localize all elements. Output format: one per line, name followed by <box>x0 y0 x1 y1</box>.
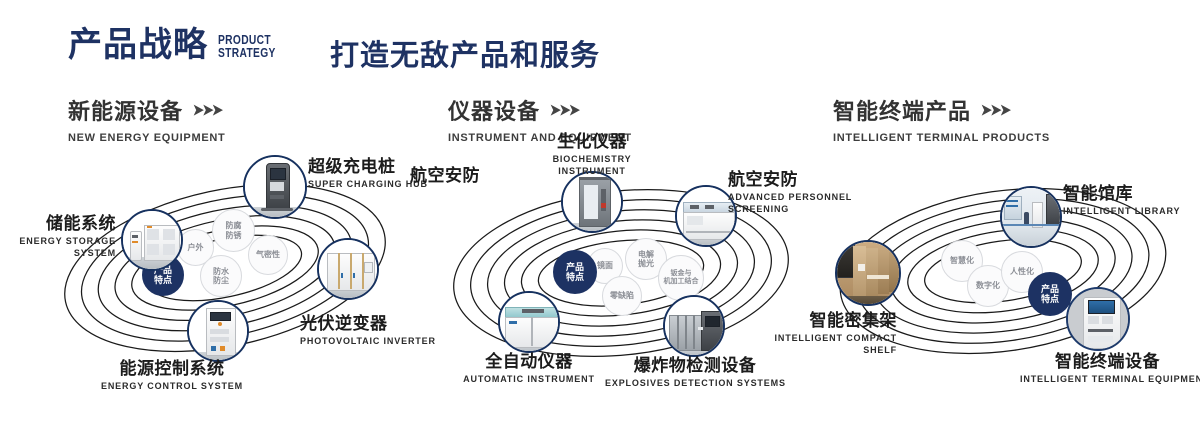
section-title-cn: 仪器设备 <box>448 94 540 126</box>
feature-bubble: 气密性 <box>248 235 288 275</box>
node-label-en: INTELLIGENT COMPACT <box>727 333 897 343</box>
node-label-en: INTELLIGENT TERMINAL EQUIPMENT <box>1020 374 1195 384</box>
section-title-en: INTELLIGENT TERMINAL PRODUCTS <box>833 132 1050 144</box>
node-label-automatic-instrument: 全自动仪器 AUTOMATIC INSTRUMENT <box>439 353 619 384</box>
node-energy-storage-system[interactable] <box>121 209 183 271</box>
node-biochemistry-instrument[interactable] <box>561 171 623 233</box>
node-label-cn: 智能终端设备 <box>1020 353 1195 372</box>
chevron-right-icon: ➤➤➤ <box>192 103 221 118</box>
section-title-cn: 新能源设备 <box>68 94 183 126</box>
node-label-en: INTELLIGENT LIBRARY <box>1063 206 1200 216</box>
node-label-energy-storage-system: 储能系统 ENERGY STORAGE SYSTEM <box>0 215 116 258</box>
feature-bubble: 防水 防尘 <box>200 255 242 297</box>
node-explosives-detection-systems[interactable] <box>663 295 725 357</box>
node-label-explosives-detection-systems: 爆炸物检测设备 EXPLOSIVES DETECTION SYSTEMS <box>605 357 785 388</box>
node-energy-control-system[interactable] <box>187 300 249 362</box>
feature-line: 智慧化 <box>950 256 974 265</box>
feature-line: 气密性 <box>256 250 280 259</box>
node-intelligent-library[interactable] <box>1000 186 1062 248</box>
feature-line: 零缺陷 <box>610 291 634 300</box>
node-label-cn: 智能馆库 <box>1063 185 1200 204</box>
cluster-new-energy-equipment: 户外 防腐 防锈 防水 防尘 气密性 产品 特点 <box>40 155 420 390</box>
feature-line: 抛光 <box>638 259 654 268</box>
center-bubble-line2: 特点 <box>1041 294 1059 304</box>
chevron-right-icon: ➤➤➤ <box>980 103 1009 118</box>
center-bubble-line1: 产品 <box>1041 284 1059 294</box>
node-label-intelligent-terminal-equipment: 智能终端设备 INTELLIGENT TERMINAL EQUIPMENT <box>1020 353 1195 384</box>
section-title-en: NEW ENERGY EQUIPMENT <box>68 132 225 144</box>
side-label-cn: 航空安防 <box>410 167 500 186</box>
node-label-en: SHELF <box>727 345 897 355</box>
page-title: 产品战略 PRODUCT STRATEGY <box>68 28 288 62</box>
feature-line: 镜面 <box>597 261 613 270</box>
node-photovoltaic-inverter[interactable] <box>317 238 379 300</box>
feature-bubble: 钣金与 机加工结合 <box>658 255 704 301</box>
center-bubble-product-features: 产品 特点 <box>1028 272 1072 316</box>
node-label-en: EXPLOSIVES DETECTION SYSTEMS <box>605 378 785 388</box>
center-bubble-line2: 特点 <box>154 275 172 285</box>
center-bubble-line2: 特点 <box>566 272 584 282</box>
page-title-cn: 产品战略 <box>68 28 208 62</box>
cluster-intelligent-terminal-products: 智慧化 数字化 人性化 产品 特点 <box>815 155 1195 390</box>
node-intelligent-compact-shelf[interactable] <box>835 240 901 306</box>
feature-line: 机加工结合 <box>664 278 699 286</box>
node-label-cn: 智能密集架 <box>727 312 897 331</box>
product-strategy-infographic: 产品战略 PRODUCT STRATEGY 打造无敌产品和服务 新能源设备 ➤➤… <box>0 0 1200 422</box>
node-label-energy-control-system: 能源控制系统 ENERGY CONTROL SYSTEM <box>82 360 262 391</box>
node-label-biochemistry-instrument: 生化仪器 BIOCHEMISTRY INSTRUMENT <box>533 133 651 176</box>
center-bubble-product-features: 产品 特点 <box>553 250 597 294</box>
center-bubble-line1: 产品 <box>566 262 584 272</box>
node-label-en: SYSTEM <box>0 248 116 258</box>
node-intelligent-terminal-equipment[interactable] <box>1066 287 1130 351</box>
node-label-en: AUTOMATIC INSTRUMENT <box>439 374 619 384</box>
feature-line: 防锈 <box>226 231 242 240</box>
page-title-en-line2: STRATEGY <box>218 47 276 60</box>
chevron-right-icon: ➤➤➤ <box>549 103 578 118</box>
feature-line: 钣金与 <box>664 270 699 278</box>
node-automatic-instrument[interactable] <box>498 291 560 353</box>
node-label-en: INSTRUMENT <box>533 166 651 176</box>
node-label-en: BIOCHEMISTRY <box>533 154 651 164</box>
side-label-aviation-security: 航空安防 <box>410 167 500 186</box>
node-label-intelligent-compact-shelf: 智能密集架 INTELLIGENT COMPACT SHELF <box>727 312 897 355</box>
feature-line: 户外 <box>188 243 204 252</box>
section-heading-intelligent-terminal-products: 智能终端产品 ➤➤➤ INTELLIGENT TERMINAL PRODUCTS <box>833 94 1050 144</box>
node-label-cn: 储能系统 <box>0 215 116 234</box>
feature-line: 防水 <box>213 267 229 276</box>
node-label-cn: 爆炸物检测设备 <box>605 357 785 376</box>
section-title-cn: 智能终端产品 <box>833 94 971 126</box>
node-label-cn: 全自动仪器 <box>439 353 619 372</box>
feature-line: 防尘 <box>213 276 229 285</box>
section-heading-new-energy-equipment: 新能源设备 ➤➤➤ NEW ENERGY EQUIPMENT <box>68 94 225 144</box>
node-label-intelligent-library: 智能馆库 INTELLIGENT LIBRARY <box>1063 185 1200 216</box>
feature-line: 防腐 <box>226 221 242 230</box>
node-super-charging-hub[interactable] <box>243 155 307 219</box>
node-label-cn: 生化仪器 <box>533 133 651 152</box>
node-label-en: ENERGY STORAGE <box>0 236 116 246</box>
feature-line: 人性化 <box>1010 267 1034 276</box>
node-label-en: ENERGY CONTROL SYSTEM <box>82 381 262 391</box>
page-subtitle: 打造无敌产品和服务 <box>330 32 600 74</box>
feature-line: 电解 <box>638 250 654 259</box>
feature-line: 数字化 <box>976 281 1000 290</box>
feature-bubble: 零缺陷 <box>602 276 642 316</box>
page-title-en: PRODUCT STRATEGY <box>218 34 276 60</box>
node-label-cn: 能源控制系统 <box>82 360 262 379</box>
